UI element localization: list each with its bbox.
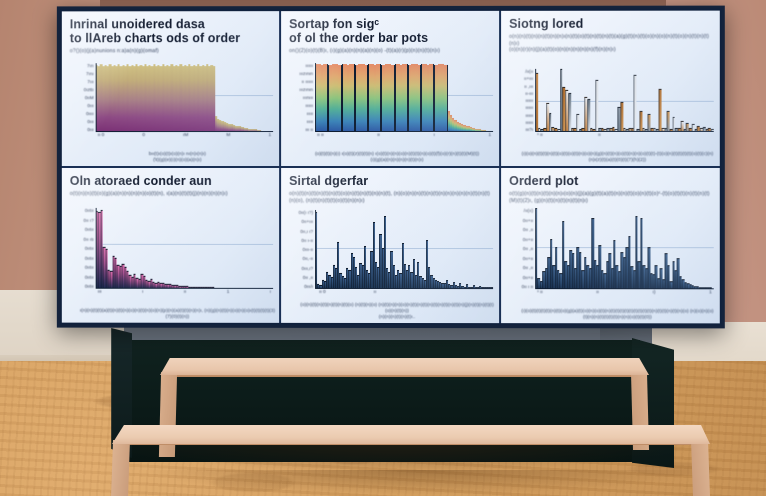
ytick: ıııııı (305, 103, 313, 108)
panel-3-yticks: /ıı(ıı ıı+ııı ıı ,ııı ıı-ııı ıııııı ıııı… (509, 69, 533, 132)
chart-panel-3[interactable]: Siotng lored o(n)(n)(t)(n)(n)(t)(n)(n)ı(… (501, 11, 720, 166)
panel-4-subtitle: o(t)(n)(n)(t)(o)(g)(a)(n)(n)(n)(n)(o)(t)… (70, 191, 271, 198)
chart-panel-1[interactable]: Inrinal unoidered dasa to llAreb charts … (62, 11, 279, 166)
ytick: /ıı(ıı) (524, 208, 533, 213)
ytick: 0ııtıı (85, 255, 94, 260)
ytick: ıı-ııı (525, 91, 533, 96)
panel-6-title: Orderd plot (509, 174, 712, 188)
bench-high-top (160, 358, 649, 375)
panel-3-bars (535, 69, 714, 132)
panel-2-subtitle: on()(2)(o)(t)(B)ı, (ı)(g)(a)(n)(n)(a)(n)… (289, 48, 491, 55)
panel-5-subtitle: o(n)(t)(n)(t)(n)(t)(n)(t)(o)(n)(t)(n)(t)… (289, 191, 491, 204)
ytick: 0ızttı (84, 87, 94, 92)
panel-3-xlabel: (ı)(o)(n)(t)(t)(n)(t)(o)(t)(o)(t)(n)(o)(… (519, 152, 716, 164)
ytick: 0ııtıı (85, 208, 94, 213)
ytick: 0ıı ıtı (84, 236, 94, 241)
chart-panel-4[interactable]: Oln atoraed conder aun o(t)(n)(n)(t)(o)(… (62, 168, 279, 323)
ytick: 0ııı,ı? (302, 265, 313, 270)
panel-1-plot: 7ırı 7ını 7ııı 0ızttı 0ııM 0ııı 0ıııı 0ı… (70, 63, 273, 144)
panel-4-title: Oln atoraed conder aun (70, 174, 271, 188)
chart-grid: Inrinal unoidered dasa to llAreb charts … (62, 11, 720, 324)
panel-1-yticks: 7ırı 7ını 7ııı 0ızttı 0ııM 0ııı 0ıııı 0ı… (70, 63, 94, 132)
panel-1-title: Inrinal unoidered dasa to llAreb charts … (70, 17, 271, 45)
ytick: 0ıı+ıı (523, 275, 533, 280)
ytick: ıııııı (525, 120, 533, 125)
ytick: ııızının (299, 71, 313, 76)
ytick: ıı+ııı (524, 76, 533, 81)
bench-shadow (150, 470, 690, 494)
xtick: 1 (709, 290, 712, 301)
ytick: 0ııı (87, 127, 93, 132)
ytick: 0ıı ı? (84, 217, 94, 222)
bench-low-leg-left (111, 440, 130, 496)
ytick: 0ııı (87, 119, 93, 124)
ytick: 0ııtıı (85, 265, 94, 270)
xtick: ı) (652, 290, 655, 301)
bench-low-leg-right (691, 440, 710, 496)
panel-5-xticks: ıı 0 ıı (315, 290, 493, 301)
panel-1-subtitle: o?()(o)(j(a)nunions n:a)a(n)(g)(omaf) (70, 48, 271, 55)
xtick: ᶟ ıı (537, 290, 543, 301)
xtick: ıM (183, 133, 188, 144)
ytick: 0ıı ı-ıı (301, 238, 313, 243)
ytick: 0ııı-ıı (303, 247, 313, 252)
ytick: 7ını (86, 71, 94, 76)
panel-2-plot: ıııııı ııızının ıı ıııııı ııızının ııını… (289, 63, 493, 144)
xtick: ıı 0 (319, 290, 326, 301)
ytick: ıııııı (525, 105, 533, 110)
ytick: 0ııtıı (85, 274, 94, 279)
xtick: ıı (596, 290, 599, 301)
panel-1-xticks: ıı 0 0 ıM M 1 (96, 133, 273, 144)
panel-6-axes (535, 208, 714, 289)
ytick: ıııııı (525, 98, 533, 103)
ytick: 0ııtıı (85, 227, 94, 232)
ytick: 0ıı ,ıı (303, 275, 313, 280)
panel-5-plot: 0ıı(ı ı?) 0ıı+ııı 0ıı,ı ı? 0ıı ı-ıı 0ııı… (289, 210, 493, 301)
ytick: ıı ,ııı (524, 83, 533, 88)
xtick: 1 (227, 290, 230, 301)
ytick: 0ıı ı ıı (522, 284, 534, 289)
ytick: 7ırı (87, 63, 94, 68)
ytick: /ıı(ıı (525, 69, 533, 74)
panel-6-plot: /ıı(ıı) 0ıı+ıı 0ıı ,ıı 0ıı+ıı 0ıı ,ıı 0ı… (509, 208, 714, 301)
ytick: ııııı (307, 119, 313, 124)
panel-2-title: Sortap fon sigᶜ of ol the order bar pots (289, 17, 491, 45)
panel-5-title: Sirtal dgerfar (289, 174, 491, 188)
ytick: 0ıı ,ıı (523, 246, 533, 251)
panel-2-axes (315, 63, 493, 132)
panel-5-yticks: 0ıı(ı ı?) 0ıı+ııı 0ıı,ı ı? 0ıı ı-ıı 0ııı… (289, 210, 313, 289)
ytick: 0ıı+ııı (301, 219, 313, 224)
xtick: ıı (374, 290, 377, 301)
ytick: ııı?ı (525, 127, 533, 132)
ytick: ıııııı (305, 63, 313, 68)
panel-1-axes (96, 63, 273, 132)
chart-panel-5[interactable]: Sirtal dgerfar o(n)(t)(n)(t)(n)(t)(n)(t)… (281, 168, 499, 323)
panel-6-xticks: ᶟ ıı ıı ı) 1 (535, 290, 714, 301)
xtick: ᶟ ıı (537, 133, 543, 144)
panel-2-bars (315, 63, 493, 132)
panel-2-xticks: ıı ıı ıı ı 1 (315, 133, 493, 144)
ytick: 0ıı ,ıı (523, 227, 533, 232)
xtick: ıı ıı (317, 133, 324, 144)
ytick: 0ıı(ı ı?) (299, 210, 314, 215)
ytick: 0ııı/ı (304, 284, 313, 289)
panel-6-yticks: /ıı(ıı) 0ıı+ıı 0ıı ,ıı 0ıı+ıı 0ıı ,ıı 0ı… (509, 208, 533, 289)
panel-6-xlabel: (ı)(o)(t)(t)(t)(t)(n)(t)(o)(g)(a)(t)(o)(… (519, 309, 716, 321)
xtick: 1 (488, 133, 491, 144)
ytick: ııızının (299, 87, 313, 92)
xtick: ı (142, 290, 143, 301)
chart-panel-6[interactable]: Orderd plot o(t)(g)(n)(t)(n)(t)(n)(n)ı(o… (501, 168, 720, 323)
panel-5-bars (315, 210, 493, 289)
panel-5-axes (315, 210, 493, 289)
ytick: 0ıı,ı ı? (300, 228, 313, 233)
panel-4-bars (96, 208, 273, 289)
ytick: 0ııı (87, 103, 93, 108)
panel-3-xticks: ᶟ ıı ıı (535, 133, 714, 144)
chart-panel-2[interactable]: Sortap fon sigᶜ of ol the order bar pots… (281, 11, 499, 166)
panel-3-subtitle: o(n)(n)(t)(n)(n)(t)(n)(n)ı(n)(t)(o)(t)(n… (509, 34, 712, 54)
xtick: ıı (598, 133, 601, 144)
ytick: ııı ıı (305, 127, 313, 132)
xtick: 0 (142, 133, 145, 144)
video-wall-display[interactable]: Inrinal unoidered dasa to llAreb charts … (57, 6, 725, 329)
xtick: M (226, 133, 230, 144)
panel-1-bars (96, 63, 273, 132)
ytick: 0ııtıı (85, 284, 94, 289)
ytick: 7ııı (87, 79, 93, 84)
xtick: ıı (377, 133, 380, 144)
gallery-scene: Inrinal unoidered dasa to llAreb charts … (0, 0, 766, 496)
ytick: ııınııı (303, 95, 313, 100)
xtick: ı (433, 133, 434, 144)
panel-4-xlabel: ı(n)(n)(t)(t)(a)(t)(n)(t)(n)(o)(n)(t)(n)… (80, 309, 275, 321)
ytick: 0ıı+ıı (523, 218, 533, 223)
panel-6-subtitle: o(t)(g)(n)(t)(n)(t)(n)(n)ı(o)(n)(j)(a)(g… (509, 191, 712, 204)
ytick: 0ıııı (86, 111, 94, 116)
xtick: ııı (98, 290, 102, 301)
panel-4-plot: 0ııtıı 0ıı ı? 0ııtıı 0ıı ıtı 0ııtıı 0ııt… (70, 208, 273, 301)
panel-3-title: Siotng lored (509, 17, 712, 31)
bench-low-top (112, 425, 710, 444)
xtick: 1 (268, 133, 271, 144)
ytick: 0ıı ,ıı (523, 265, 533, 270)
panel-1-xlabel: bıı(t)ı(o)(t)ı(o)(n)ı nı(n)ı(n)ı) (\t)(g… (80, 152, 275, 164)
panel-6-bars (535, 208, 714, 289)
panel-4-yticks: 0ııtıı 0ıı ı? 0ııtıı 0ıı ıtı 0ııtıı 0ııt… (70, 208, 94, 289)
ytick: 0ııtıı (85, 246, 94, 251)
panel-3-axes (535, 69, 714, 132)
panel-2-yticks: ıııııı ııızının ıı ıııııı ııızının ııını… (289, 63, 313, 132)
xtick: ıı 0 (98, 133, 105, 144)
panel-2-xlabel: (o)(t)(t)(n)(ı) ı(o)(t)(z)(t)(t)(n) ı(o)… (299, 152, 495, 164)
panel-3-plot: /ıı(ıı ıı+ııı ıı ,ııı ıı-ııı ıııııı ıııı… (509, 69, 714, 144)
xtick: ıı (184, 290, 187, 301)
panel-4-axes (96, 208, 273, 289)
ytick: 0ııM (85, 95, 94, 100)
xtick: ı (270, 290, 271, 301)
panel-4-xticks: ııı ı ıı 1 ı (96, 290, 273, 301)
panel-5-xlabel: (o)(n)(t)(n)(t)(n)(t)(n)(t)(o) (n)(t)(n)… (299, 303, 495, 321)
plinth-shadow (100, 442, 700, 472)
ytick: 0ıı+ıı (523, 256, 533, 261)
ytick: ıı ıııııı (302, 79, 313, 84)
ytick: 0ıı+ıı (523, 237, 533, 242)
ytick: 0ıı,-ıı (303, 256, 313, 261)
ytick: ıııııı (525, 112, 533, 117)
ytick: ııııı (307, 111, 313, 116)
